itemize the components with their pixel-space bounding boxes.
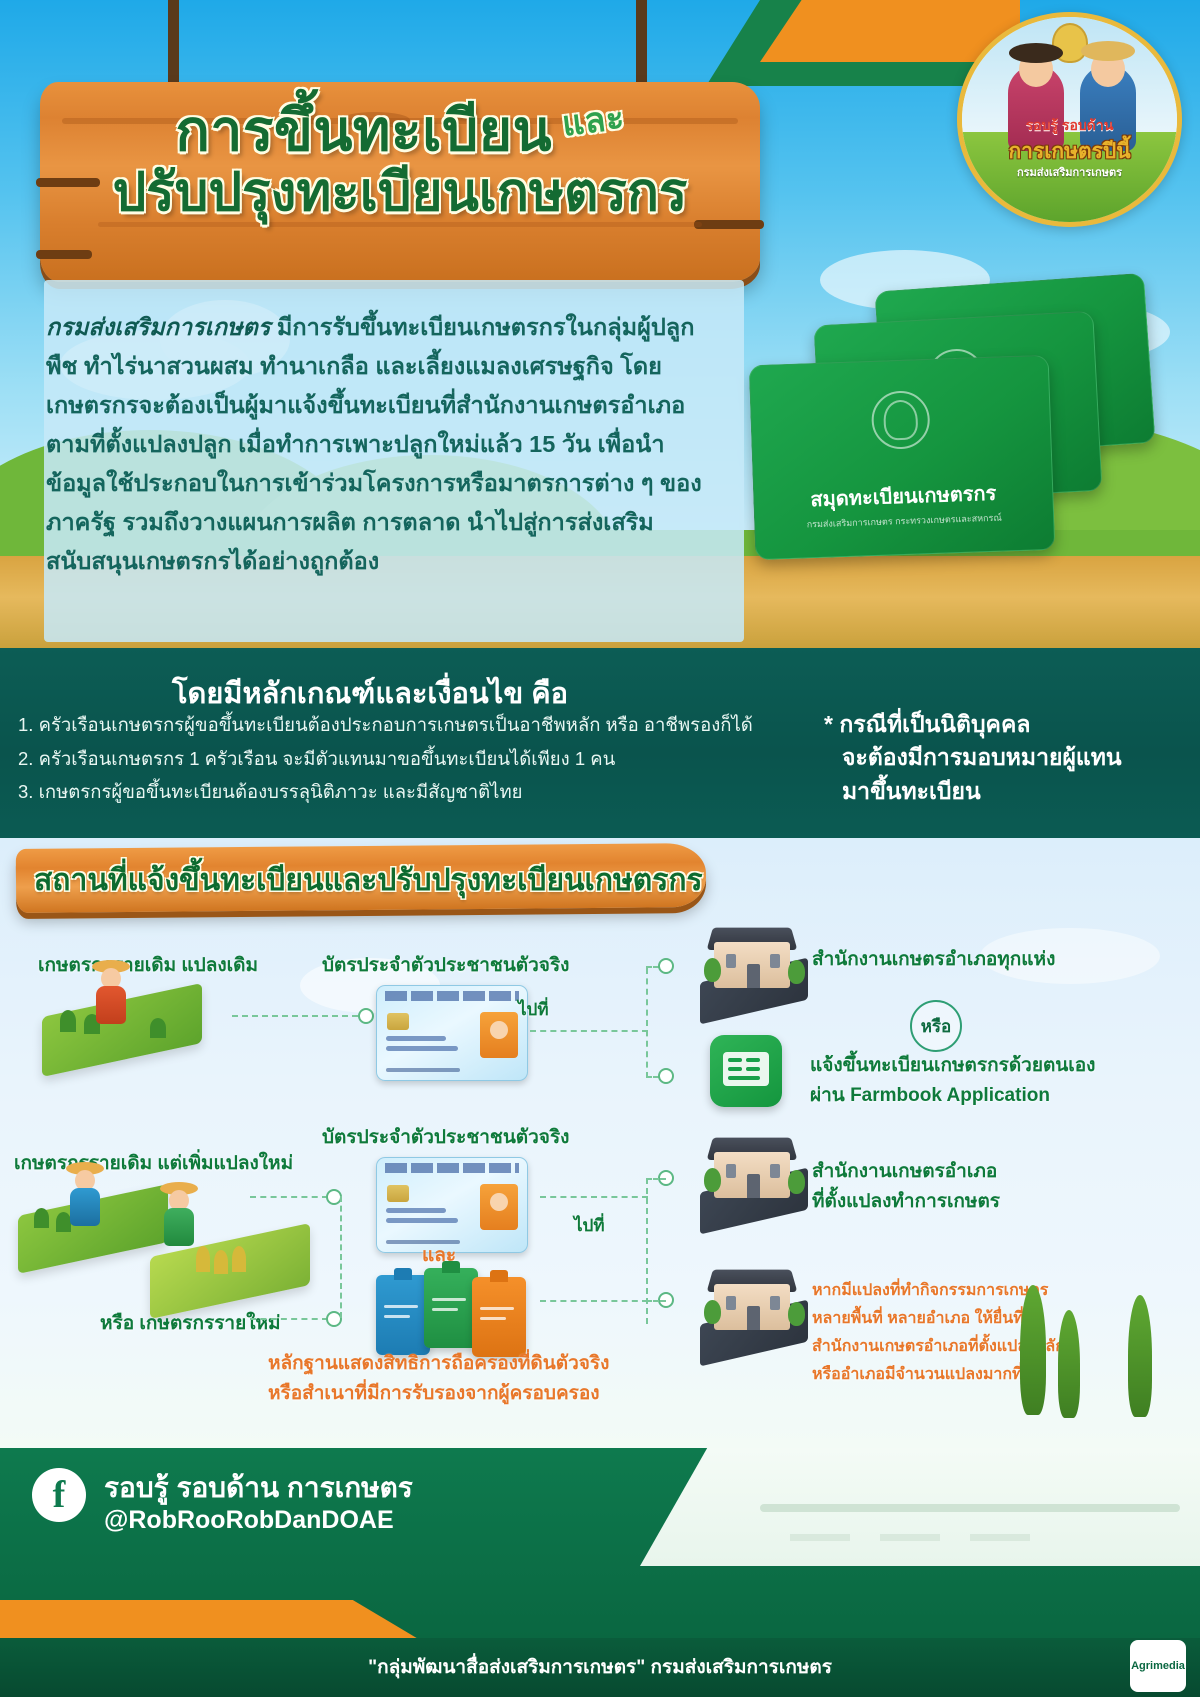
- row2-dest1-line2: ที่ตั้งแปลงทำการเกษตร: [812, 1186, 1000, 1216]
- footer-orange-chevron: [0, 1600, 420, 1640]
- id-card-line: [386, 1208, 446, 1213]
- criteria-title: โดยมีหลักเกณฑ์และเงื่อนไข คือ: [0, 670, 740, 716]
- id-card-photo: [480, 1012, 518, 1058]
- row1-id-card: [376, 985, 528, 1081]
- road-stripe: [760, 1504, 1180, 1512]
- building-window: [770, 954, 780, 968]
- id-card-line: [386, 1036, 446, 1041]
- row1-office-building-icon: [700, 920, 808, 1012]
- doc-tab: [442, 1261, 460, 1273]
- building-window: [770, 1296, 780, 1310]
- row2-doc2-line1: หลักฐานแสดงสิทธิการถือครองที่ดินตัวจริง: [268, 1348, 609, 1378]
- id-card-line: [386, 1218, 458, 1223]
- crop: [34, 1208, 49, 1228]
- row1-connector-dot-left: [358, 1008, 374, 1024]
- tree-icon: [704, 1168, 721, 1192]
- row1-dot-app: [658, 1068, 674, 1084]
- criteria-item-1: 1. ครัวเรือนเกษตรกรผู้ขอขึ้นทะเบียนต้องป…: [18, 716, 778, 735]
- footer-road-cut: [640, 1448, 1200, 1566]
- title-and-word: และ: [560, 98, 627, 143]
- doc-tab: [394, 1268, 412, 1280]
- logo-hair-female: [1009, 43, 1063, 63]
- row2-source-line1: เกษตรกรรายเดิม แต่เพิ่มแปลงใหม่: [14, 1148, 293, 1178]
- row2-dashed-line-2: [540, 1196, 648, 1198]
- row1-goto-label: ไปที่: [518, 996, 549, 1023]
- id-card-chip: [387, 1185, 409, 1202]
- land-doc-orange: [472, 1277, 526, 1357]
- title-line1-row: การขึ้นทะเบียนและ: [40, 100, 760, 164]
- row1-or-badge: หรือ: [910, 1000, 962, 1052]
- title-line2: ปรับปรุงทะเบียนเกษตรกร: [40, 164, 760, 222]
- row2-doc2-line2: หรือสำเนาที่มีการรับรองจากผู้ครอบครอง: [268, 1378, 600, 1408]
- id-card-photo: [480, 1184, 518, 1230]
- facebook-icon[interactable]: f: [32, 1468, 86, 1522]
- intro-paragraph: กรมส่งเสริมการเกษตร มีการรับขึ้นทะเบียนเ…: [46, 308, 716, 581]
- bottom-credit-text: "กลุ่มพัฒนาสื่อส่งเสริมการเกษตร" กรมส่งเ…: [0, 1652, 1200, 1682]
- row2-dest1-line1: สำนักงานเกษตรอำเภอ: [812, 1156, 997, 1186]
- tree-icon: [704, 1300, 721, 1324]
- row2-office-building-icon-2: [700, 1262, 808, 1354]
- tree-icon: [704, 958, 721, 982]
- crop-rice: [214, 1250, 228, 1274]
- juristic-person-note-text: * กรณีที่เป็นนิติบุคคล จะต้องมีการมอบหมา…: [824, 711, 1122, 804]
- crop-rice: [196, 1246, 210, 1272]
- row2-dashed-top: [250, 1196, 328, 1198]
- juristic-person-note: * กรณีที่เป็นนิติบุคคล จะต้องมีการมอบหมา…: [842, 708, 1182, 808]
- farmer-body: [96, 986, 126, 1024]
- card-seal-icon: [871, 390, 931, 450]
- cypress-tree-icon: [1020, 1285, 1046, 1415]
- campaign-logo-badge: รอบรู้ รอบด้าน การเกษตรปีนี้ กรมส่งเสริม…: [957, 12, 1182, 227]
- land-doc-green: [424, 1268, 478, 1348]
- row2-source-line2: หรือ เกษตรกรรายใหม่: [100, 1308, 281, 1338]
- facebook-handle[interactable]: @RobRooRobDanDOAE: [104, 1506, 394, 1535]
- tree-icon: [788, 960, 805, 984]
- row2-dest2-line1: หากมีแปลงที่ทำกิจกรรมการเกษตร: [812, 1278, 1048, 1303]
- locations-banner-title: สถานที่แจ้งขึ้นทะเบียนและปรับปรุงทะเบียน…: [34, 857, 714, 904]
- doc-line: [432, 1298, 466, 1301]
- doc-line: [384, 1305, 418, 1308]
- building-door: [747, 1174, 760, 1198]
- row2-dest2-line4: หรืออำเภอมีจำนวนแปลงมากที่สุด: [812, 1362, 1043, 1387]
- criteria-item-3: 3. เกษตรกรผู้ขอขึ้นทะเบียนต้องบรรลุนิติภ…: [18, 783, 778, 802]
- row2-doc-label: บัตรประจำตัวประชาชนตัวจริง: [322, 1122, 569, 1152]
- land-doc-blue: [376, 1275, 430, 1355]
- row1-dest2-line2: ผ่าน Farmbook Application: [810, 1080, 1050, 1110]
- logo-hat-male: [1081, 41, 1135, 61]
- farmbook-app-icon: [710, 1035, 782, 1107]
- building-door: [747, 964, 760, 988]
- cypress-tree-icon: [1058, 1310, 1080, 1418]
- criteria-item-2: 2. ครัวเรือนเกษตรกร 1 ครัวเรือน จะมีตัวแ…: [18, 750, 778, 769]
- row1-source-label: เกษตรกรรายเดิม แปลงเดิม: [38, 950, 258, 980]
- road-dash: [880, 1534, 940, 1541]
- row2-dashed-branch: [646, 1178, 648, 1324]
- row2-goto-label: ไปที่: [574, 1212, 605, 1239]
- doc-tab: [490, 1270, 508, 1282]
- row2-id-card: [376, 1157, 528, 1253]
- row2-dashed-vert-left: [340, 1196, 342, 1318]
- rope-right: [636, 0, 647, 82]
- row2-dashed-up: [646, 1178, 666, 1180]
- building-window: [726, 1164, 736, 1178]
- row2-dashed-line-3: [540, 1300, 648, 1302]
- row1-dashed-line-2: [530, 1030, 648, 1032]
- building-window: [726, 954, 736, 968]
- intro-body: มีการรับขึ้นทะเบียนเกษตรกรในกลุ่มผู้ปลูก…: [46, 314, 702, 574]
- doc-line: [480, 1317, 506, 1320]
- row2-dashed-down: [646, 1300, 666, 1302]
- crop: [60, 1010, 76, 1032]
- crop: [150, 1018, 166, 1038]
- wood-notch-left2: [36, 250, 92, 259]
- road-dash: [970, 1534, 1030, 1541]
- title-line1: การขึ้นทะเบียน: [175, 99, 552, 163]
- row1-dot-office: [658, 958, 674, 974]
- crop-rice: [232, 1246, 246, 1272]
- tree-icon: [788, 1170, 805, 1194]
- road-dash: [790, 1534, 850, 1541]
- farmer-body: [164, 1208, 194, 1246]
- intro-lead: กรมส่งเสริมการเกษตร: [46, 314, 270, 340]
- logo-line3: กรมส่งเสริมการเกษตร: [962, 163, 1177, 181]
- building-window: [726, 1296, 736, 1310]
- id-card-signature: [386, 1068, 460, 1072]
- agrimedia-logo: Agrimedia: [1130, 1640, 1186, 1692]
- row2-dashed-bottom: [250, 1318, 328, 1320]
- criteria-list: 1. ครัวเรือนเกษตรกรผู้ขอขึ้นทะเบียนต้องป…: [18, 716, 778, 817]
- doc-line: [432, 1308, 458, 1311]
- doc-line: [384, 1315, 410, 1318]
- page-title: การขึ้นทะเบียนและ ปรับปรุงทะเบียนเกษตรกร: [40, 100, 760, 222]
- row1-doc-label: บัตรประจำตัวประชาชนตัวจริง: [322, 950, 569, 980]
- infographic-page: รอบรู้ รอบด้าน การเกษตรปีนี้ กรมส่งเสริม…: [0, 0, 1200, 1697]
- facebook-page-name: รอบรู้ รอบด้าน การเกษตร: [104, 1466, 413, 1510]
- farmer-body: [70, 1188, 100, 1226]
- criteria-section: โดยมีหลักเกณฑ์และเงื่อนไข คือ 1. ครัวเรื…: [0, 648, 1200, 838]
- row1-dashed-line-1: [232, 1015, 358, 1017]
- cypress-tree-icon: [1128, 1295, 1152, 1417]
- row2-dest2-line2: หลายพื้นที่ หลายอำเภอ ให้ยื่นที่: [812, 1306, 1024, 1331]
- building-door: [747, 1306, 760, 1330]
- row1-dashed-branch: [646, 968, 648, 1078]
- farmer-book-card-front: สมุดทะเบียนเกษตรกร กรมส่งเสริมการเกษตร ก…: [749, 355, 1056, 560]
- id-card-header-stripe: [385, 1163, 519, 1173]
- doc-line: [480, 1307, 514, 1310]
- id-card-line: [386, 1046, 458, 1051]
- farmbook-app-inner: [723, 1052, 769, 1086]
- crop: [56, 1212, 71, 1232]
- tree-icon: [788, 1302, 805, 1326]
- row1-dest2-line1: แจ้งขึ้นทะเบียนเกษตรกรด้วยตนเอง: [810, 1050, 1095, 1080]
- row1-dest1-label: สำนักงานเกษตรอำเภอทุกแห่ง: [812, 944, 1055, 974]
- id-card-header-stripe: [385, 991, 519, 1001]
- id-card-chip: [387, 1013, 409, 1030]
- logo-line1: รอบรู้ รอบด้าน: [962, 115, 1177, 137]
- row2-office-building-icon-1: [700, 1130, 808, 1222]
- building-window: [770, 1164, 780, 1178]
